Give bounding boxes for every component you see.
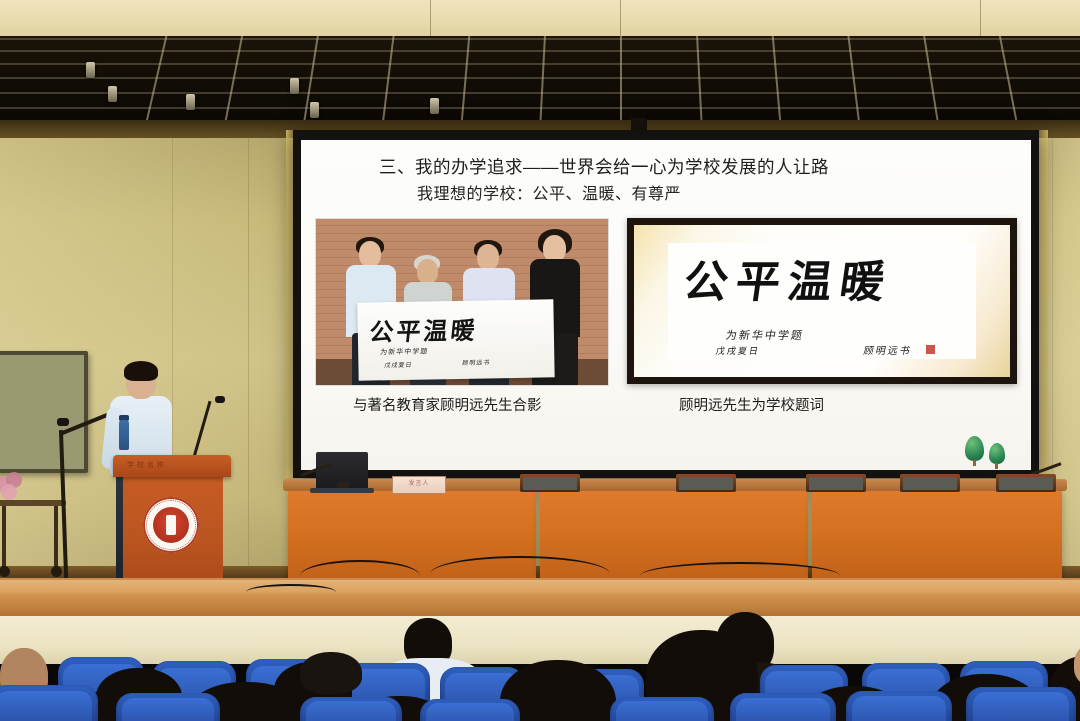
group-photo: 公平温暖 为新华中学题 戊戌夏日 顾明远书 xyxy=(315,218,609,386)
photo-scroll: 公平温暖 为新华中学题 戊戌夏日 顾明远书 xyxy=(357,299,554,380)
auditorium-seat xyxy=(846,691,952,721)
conference-monitor xyxy=(676,474,736,492)
conference-monitor xyxy=(520,474,580,492)
auditorium-seat xyxy=(300,697,402,721)
conference-table xyxy=(812,489,1062,585)
auditorium-seat xyxy=(966,687,1076,721)
laptop-base xyxy=(310,488,374,493)
auditorium-seat xyxy=(0,685,98,721)
conference-monitor xyxy=(806,474,866,492)
presentation-slide[interactable]: 三、我的办学追求——世界会给一心为学校发展的人让路 我理想的学校：公平、温暖、有… xyxy=(301,140,1031,470)
calligraphy-inscription: 为新华中学题 xyxy=(725,327,806,343)
wall-board xyxy=(0,351,88,473)
calligraphy-frame: 公平温暖 为新华中学题 戊戌夏日 顾明远书 xyxy=(627,218,1017,384)
auditorium-scene: 三、我的办学追求——世界会给一心为学校发展的人让路 我理想的学校：公平、温暖、有… xyxy=(0,0,1080,721)
ceiling-panel xyxy=(0,0,1080,38)
floor-microphone-head xyxy=(57,418,69,426)
school-crest-icon xyxy=(143,497,199,553)
left-photo-caption: 与著名教育家顾明远先生合影 xyxy=(353,394,542,415)
water-bottle xyxy=(119,420,129,450)
calligraphy-signature: 顾明远书 xyxy=(862,342,913,357)
audience-area xyxy=(0,600,1080,721)
floor-cable xyxy=(430,556,610,592)
slide-title: 三、我的办学追求——世界会给一心为学校发展的人让路 xyxy=(379,154,979,179)
ceiling-spotlight xyxy=(290,78,299,94)
podium-microphone-head xyxy=(215,396,225,403)
audience-head xyxy=(300,652,362,694)
desk-microphone-base xyxy=(336,482,350,488)
flower-cart xyxy=(0,500,66,578)
auditorium-seat xyxy=(420,699,520,721)
name-card: 发言人 xyxy=(392,476,446,494)
calligraphy-main-text: 公平温暖 xyxy=(680,257,969,309)
tree-decoration-icon xyxy=(965,432,1013,466)
ceiling-spotlight xyxy=(310,102,319,118)
scroll-date: 戊戌夏日 xyxy=(384,360,413,370)
ceiling-grid xyxy=(0,36,1080,126)
ceiling-spotlight xyxy=(430,98,439,114)
conference-monitor xyxy=(900,474,960,492)
floor-cable xyxy=(246,584,336,600)
podium-engraving: 学校名称 xyxy=(127,460,167,470)
ceiling-spotlight xyxy=(86,62,95,78)
scroll-calligraphy-text: 公平温暖 xyxy=(368,311,480,348)
conference-monitor xyxy=(996,474,1056,492)
ceiling-spotlight xyxy=(186,94,195,110)
ceiling-spotlight xyxy=(108,86,117,102)
name-card-text: 发言人 xyxy=(393,477,445,492)
flower-cart-flowers xyxy=(0,470,32,504)
auditorium-seat xyxy=(610,697,714,721)
auditorium-seat xyxy=(116,693,220,721)
floor-cable xyxy=(640,562,840,590)
scroll-inscription: 为新华中学题 xyxy=(379,346,428,357)
calligraphy-seal-icon xyxy=(926,345,935,354)
calligraphy-date: 戊戌夏日 xyxy=(715,344,761,357)
auditorium-seat xyxy=(730,693,836,721)
slide-subtitle: 我理想的学校：公平、温暖、有尊严 xyxy=(417,180,977,204)
right-artwork-caption: 顾明远先生为学校题词 xyxy=(679,394,824,415)
scroll-signature: 顾明远书 xyxy=(462,357,491,367)
